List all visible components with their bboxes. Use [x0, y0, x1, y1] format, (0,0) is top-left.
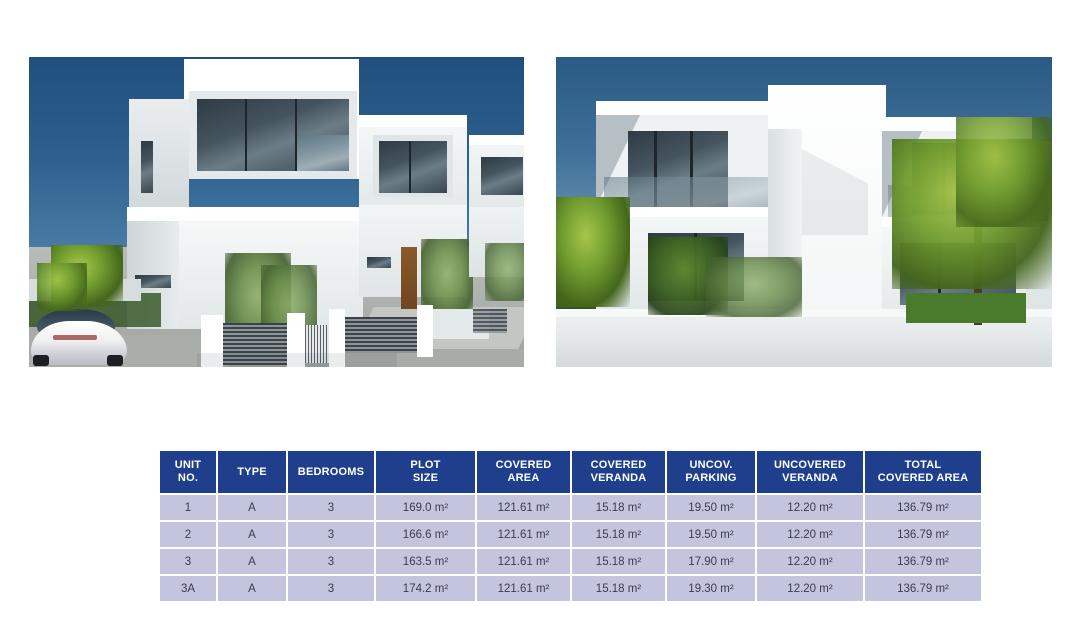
cell-plot-size: 174.2 m²	[376, 576, 475, 601]
header-line1: UNCOV.	[690, 459, 733, 471]
column-header-type[interactable]: TYPE	[218, 451, 286, 493]
unit1-upper-side-shade	[129, 99, 189, 209]
column-header-plot-size[interactable]: PLOT SIZE	[376, 451, 475, 493]
header-line1: TOTAL	[905, 459, 942, 471]
table-header-row: UNIT NO. TYPE BEDROOMS PLOT SIZE COVERED…	[160, 451, 981, 493]
willow-foliage-upper	[956, 117, 1052, 227]
unit1-side-window	[141, 141, 153, 193]
car-wheel-left	[33, 355, 49, 366]
cell-type: A	[218, 576, 286, 601]
cell-unit-no: 3A	[160, 576, 216, 601]
header-line1: BEDROOMS	[298, 466, 364, 478]
table-header: UNIT NO. TYPE BEDROOMS PLOT SIZE COVERED…	[160, 451, 981, 493]
header-line1: COVERED	[496, 459, 552, 471]
unit2-roof-slab	[359, 115, 467, 127]
header-line2: VERANDA	[782, 472, 838, 484]
header-line2: COVERED AREA	[878, 472, 969, 484]
cell-unit-no: 1	[160, 495, 216, 520]
hedge-rear	[706, 257, 802, 317]
cell-plot-size: 163.5 m²	[376, 549, 475, 574]
cell-uncovered-veranda: 12.20 m²	[757, 522, 863, 547]
gate-pier-4	[417, 305, 433, 357]
cell-covered-area: 121.61 m²	[477, 522, 570, 547]
hedge-far	[485, 243, 524, 301]
entrance-door	[401, 247, 417, 309]
cell-uncov-parking: 19.50 m²	[667, 522, 755, 547]
cell-unit-no: 2	[160, 522, 216, 547]
tree-foliage-left-2	[37, 263, 87, 311]
table-row[interactable]: 2 A 3 166.6 m² 121.61 m² 15.18 m² 19.50 …	[160, 522, 981, 547]
car-taillight	[53, 335, 97, 340]
cell-covered-veranda: 15.18 m²	[572, 549, 665, 574]
header-line2: PARKING	[685, 472, 736, 484]
cell-unit-no: 3	[160, 549, 216, 574]
unit2-upper-glazing	[379, 141, 447, 193]
column-header-uncovered-veranda[interactable]: UNCOVERED VERANDA	[757, 451, 863, 493]
header-line1: UNCOVERED	[774, 459, 846, 471]
table-body: 1 A 3 169.0 m² 121.61 m² 15.18 m² 19.50 …	[160, 495, 981, 601]
rear-elevation-render	[556, 57, 1052, 367]
gate-slatted-2	[345, 317, 419, 353]
cell-covered-area: 121.61 m²	[477, 549, 570, 574]
cell-uncov-parking: 17.90 m²	[667, 549, 755, 574]
header-line1: COVERED	[591, 459, 647, 471]
cell-covered-area: 121.61 m²	[477, 576, 570, 601]
unit3-roof-slab	[469, 135, 524, 145]
cell-covered-veranda: 15.18 m²	[572, 576, 665, 601]
unit1-upper-glazing	[197, 99, 349, 171]
column-header-unit-no[interactable]: UNIT NO.	[160, 451, 216, 493]
cell-total-covered-area: 136.79 m²	[865, 549, 981, 574]
lawn-patch	[906, 293, 1026, 323]
cell-uncovered-veranda: 12.20 m²	[757, 549, 863, 574]
cell-bedrooms: 3	[288, 576, 374, 601]
cell-bedrooms: 3	[288, 549, 374, 574]
cell-uncovered-veranda: 12.20 m²	[757, 576, 863, 601]
header-line2: VERANDA	[591, 472, 647, 484]
cell-plot-size: 169.0 m²	[376, 495, 475, 520]
cell-bedrooms: 3	[288, 495, 374, 520]
unit1-lower-band	[127, 207, 363, 221]
cell-plot-size: 166.6 m²	[376, 522, 475, 547]
header-line1: PLOT	[410, 459, 440, 471]
cell-type: A	[218, 549, 286, 574]
cell-total-covered-area: 136.79 m²	[865, 576, 981, 601]
unit3-upper-glazing	[481, 157, 523, 195]
column-header-bedrooms[interactable]: BEDROOMS	[288, 451, 374, 493]
cell-covered-veranda: 15.18 m²	[572, 522, 665, 547]
cell-total-covered-area: 136.79 m²	[865, 495, 981, 520]
cell-type: A	[218, 522, 286, 547]
tree-foliage-left	[556, 197, 630, 307]
header-line2: NO.	[178, 472, 198, 484]
cell-bedrooms: 3	[288, 522, 374, 547]
column-header-uncov-parking[interactable]: UNCOV. PARKING	[667, 451, 755, 493]
cell-uncov-parking: 19.30 m²	[667, 576, 755, 601]
brochure-page: UNIT NO. TYPE BEDROOMS PLOT SIZE COVERED…	[0, 0, 1080, 640]
table-row[interactable]: 3A A 3 174.2 m² 121.61 m² 15.18 m² 19.30…	[160, 576, 981, 601]
unit-specification-table: UNIT NO. TYPE BEDROOMS PLOT SIZE COVERED…	[158, 449, 983, 603]
header-line1: UNIT	[175, 459, 201, 471]
ground-shadow	[197, 353, 397, 367]
table-row[interactable]: 3 A 3 163.5 m² 121.61 m² 15.18 m² 17.90 …	[160, 549, 981, 574]
cell-covered-veranda: 15.18 m²	[572, 495, 665, 520]
front-elevation-render	[29, 57, 524, 367]
cell-uncovered-veranda: 12.20 m²	[757, 495, 863, 520]
column-header-covered-area[interactable]: COVERED AREA	[477, 451, 570, 493]
column-header-covered-veranda[interactable]: COVERED VERANDA	[572, 451, 665, 493]
cell-type: A	[218, 495, 286, 520]
cell-total-covered-area: 136.79 m²	[865, 522, 981, 547]
cell-covered-area: 121.61 m²	[477, 495, 570, 520]
column-header-total-covered-area[interactable]: TOTAL COVERED AREA	[865, 451, 981, 493]
cell-uncov-parking: 19.50 m²	[667, 495, 755, 520]
header-line1: TYPE	[237, 466, 267, 478]
table-row[interactable]: 1 A 3 169.0 m² 121.61 m² 15.18 m² 19.50 …	[160, 495, 981, 520]
gate-slatted-3	[473, 309, 507, 333]
header-line2: AREA	[508, 472, 540, 484]
unit2-slot-window	[367, 257, 391, 268]
villaL-roof-slab	[596, 101, 776, 115]
unit1-upper-fascia	[187, 75, 359, 91]
car-wheel-right	[107, 355, 123, 366]
header-line2: SIZE	[413, 472, 438, 484]
